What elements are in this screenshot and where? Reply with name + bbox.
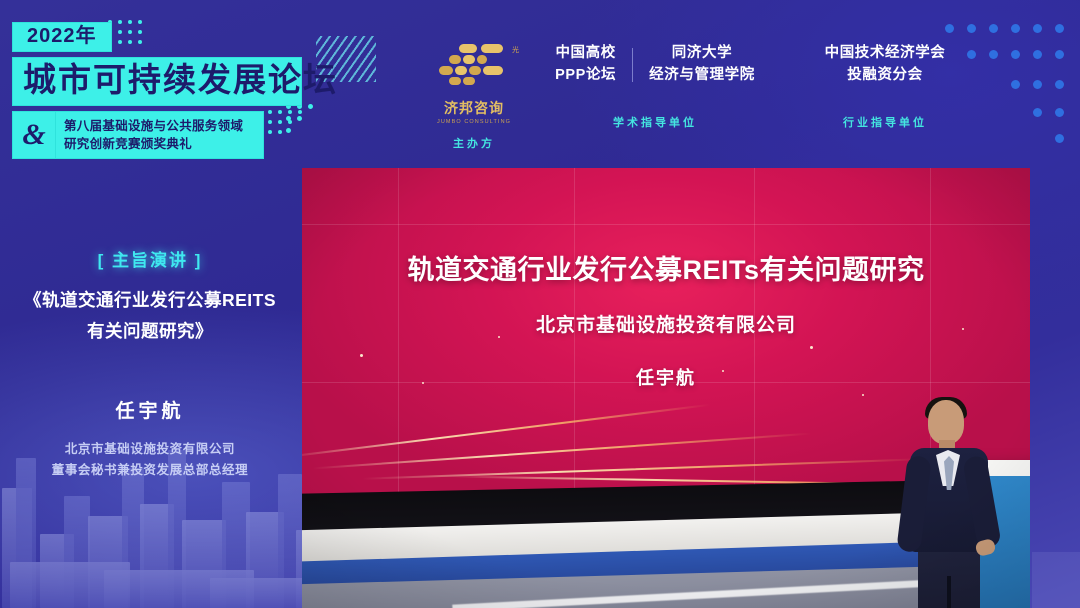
organizer-industry-group: 中国技术经济学会 投融资分会 行业指导单位 (780, 34, 990, 130)
event-subtitle-line2: 研究创新竞赛颁奖典礼 (64, 135, 257, 153)
slide-organization: 北京市基础设施投资有限公司 (302, 310, 1030, 337)
live-video-feed[interactable]: 轨道交通行业发行公募REITs有关问题研究 北京市基础设施投资有限公司 任宇航 (302, 168, 1030, 608)
speaker-affiliation: 北京市基础设施投资有限公司 董事会秘书兼投资发展总部总经理 (0, 439, 300, 480)
slide-speaker-name: 任宇航 (302, 364, 1030, 390)
keynote-tag: [ 主旨演讲 ] (0, 246, 300, 271)
event-year: 2022年 (12, 22, 112, 52)
organizer-academic-group: 中国高校 PPP论坛 同济大学 经济与管理学院 学术指导单位 (530, 34, 780, 130)
speaker-company: 北京市基础设施投资有限公司 (0, 439, 300, 460)
academic-org-1: 中国高校 PPP论坛 (539, 43, 632, 87)
person-head (928, 400, 964, 444)
host-logo-name-en: JUMBO CONSULTING (437, 119, 511, 125)
speaker-info-panel: [ 主旨演讲 ] 《轨道交通行业发行公募REITS 有关问题研究》 任宇航 北京… (0, 246, 300, 481)
slide-title: 轨道交通行业发行公募REITs有关问题研究 (302, 248, 1030, 287)
industry-org-1: 中国技术经济学会 投融资分会 (809, 43, 962, 87)
event-subtitle-line1: 第八届基础设施与公共服务领域 (64, 117, 257, 135)
jumbo-consulting-logo-icon: 光 (435, 44, 513, 88)
ampersand-mark: & (12, 111, 56, 159)
event-title: 城市可持续发展论坛 (12, 57, 302, 106)
conference-livestream-frame: 2022年 城市可持续发展论坛 & 第八届基础设施与公共服务领域 研究创新竞赛颁… (0, 0, 1080, 608)
speaker-name: 任宇航 (0, 396, 300, 423)
speaker-person (894, 400, 1012, 608)
organizer-bar: 光 济邦咨询 JUMBO CONSULTING 主办方 中国高校 PPP论坛 同… (418, 34, 1008, 142)
speaker-position: 董事会秘书兼投资发展总部总经理 (0, 460, 300, 481)
event-subtitle-block: & 第八届基础设施与公共服务领域 研究创新竞赛颁奖典礼 (12, 111, 264, 159)
organizer-host: 光 济邦咨询 JUMBO CONSULTING 主办方 (418, 34, 530, 151)
host-role-label: 主办方 (453, 135, 495, 151)
event-brand-block: 2022年 城市可持续发展论坛 & 第八届基础设施与公共服务领域 研究创新竞赛颁… (12, 22, 302, 159)
person-leg-split (947, 576, 951, 608)
academic-org-2: 同济大学 经济与管理学院 (633, 43, 771, 87)
keynote-title: 《轨道交通行业发行公募REITS 有关问题研究》 (0, 285, 300, 346)
academic-role-label: 学术指导单位 (613, 114, 697, 130)
logo-superscript-mark: 光 (512, 45, 519, 55)
keynote-title-line1: 《轨道交通行业发行公募REITS (12, 285, 288, 316)
host-logo-name-cn: 济邦咨询 (444, 98, 504, 118)
keynote-title-line2: 有关问题研究》 (12, 316, 288, 347)
industry-role-label: 行业指导单位 (843, 114, 927, 130)
event-subtitle-text: 第八届基础设施与公共服务领域 研究创新竞赛颁奖典礼 (56, 111, 264, 159)
